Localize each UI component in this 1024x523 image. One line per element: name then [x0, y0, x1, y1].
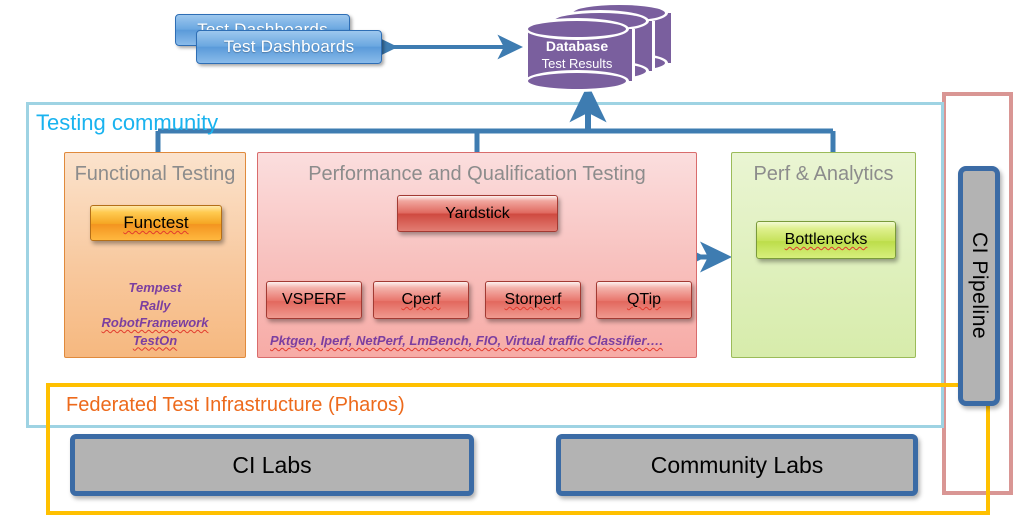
cperf-label: Cperf — [401, 291, 440, 309]
yardstick-label: Yardstick — [445, 205, 510, 223]
ci-pipeline-label: CI Pipeline — [967, 232, 991, 339]
performance-testing-panel[interactable]: Performance and Qualification Testing Ya… — [257, 152, 697, 358]
qtip-label: QTip — [627, 291, 661, 309]
functional-tool-3: TestOn — [65, 332, 245, 350]
cperf-button[interactable]: Cperf — [373, 281, 469, 319]
vsperf-label: VSPERF — [282, 291, 346, 309]
functional-tool-2: RobotFramework — [65, 314, 245, 332]
performance-testing-title: Performance and Qualification Testing — [258, 163, 696, 186]
community-labs-box[interactable]: Community Labs — [556, 434, 918, 496]
diagram-canvas: Database (horizontal double arrow) --> V… — [0, 0, 1024, 523]
pharos-title: Federated Test Infrastructure (Pharos) — [66, 394, 405, 417]
test-dashboards-front-label: Test Dashboards — [224, 37, 355, 57]
functest-label: Functest — [123, 213, 188, 233]
perf-analytics-title: Perf & Analytics — [732, 163, 915, 186]
functional-tool-list: Tempest Rally RobotFramework TestOn — [65, 279, 245, 349]
storperf-button[interactable]: Storperf — [485, 281, 581, 319]
functest-button[interactable]: Functest — [90, 205, 222, 241]
functional-testing-title: Functional Testing — [65, 163, 245, 186]
vsperf-button[interactable]: VSPERF — [266, 281, 362, 319]
ci-labs-label: CI Labs — [232, 452, 311, 479]
testing-community-title: Testing community — [36, 110, 218, 136]
test-dashboards-front-card[interactable]: Test Dashboards — [196, 30, 382, 64]
database-label: Database Test Results — [525, 18, 629, 92]
functional-tool-1: Rally — [65, 297, 245, 315]
database-title: Database — [546, 38, 608, 56]
database-subtitle: Test Results — [542, 56, 613, 72]
ci-pipeline-bar[interactable]: CI Pipeline — [958, 166, 1000, 406]
qtip-button[interactable]: QTip — [596, 281, 692, 319]
bottlenecks-button[interactable]: Bottlenecks — [756, 221, 896, 259]
perf-analytics-panel[interactable]: Perf & Analytics Bottlenecks — [731, 152, 916, 358]
ci-labs-box[interactable]: CI Labs — [70, 434, 474, 496]
database-cylinder-front[interactable]: Database Test Results — [525, 18, 629, 92]
functional-testing-panel[interactable]: Functional Testing Functest Tempest Rall… — [64, 152, 246, 358]
storperf-label: Storperf — [505, 291, 562, 309]
community-labs-label: Community Labs — [651, 452, 824, 479]
yardstick-button[interactable]: Yardstick — [397, 195, 558, 232]
bottlenecks-label: Bottlenecks — [785, 231, 868, 249]
performance-tools-strip: Pktgen, Iperf, NetPerf, LmBench, FIO, Vi… — [270, 333, 663, 348]
functional-tool-0: Tempest — [65, 279, 245, 297]
